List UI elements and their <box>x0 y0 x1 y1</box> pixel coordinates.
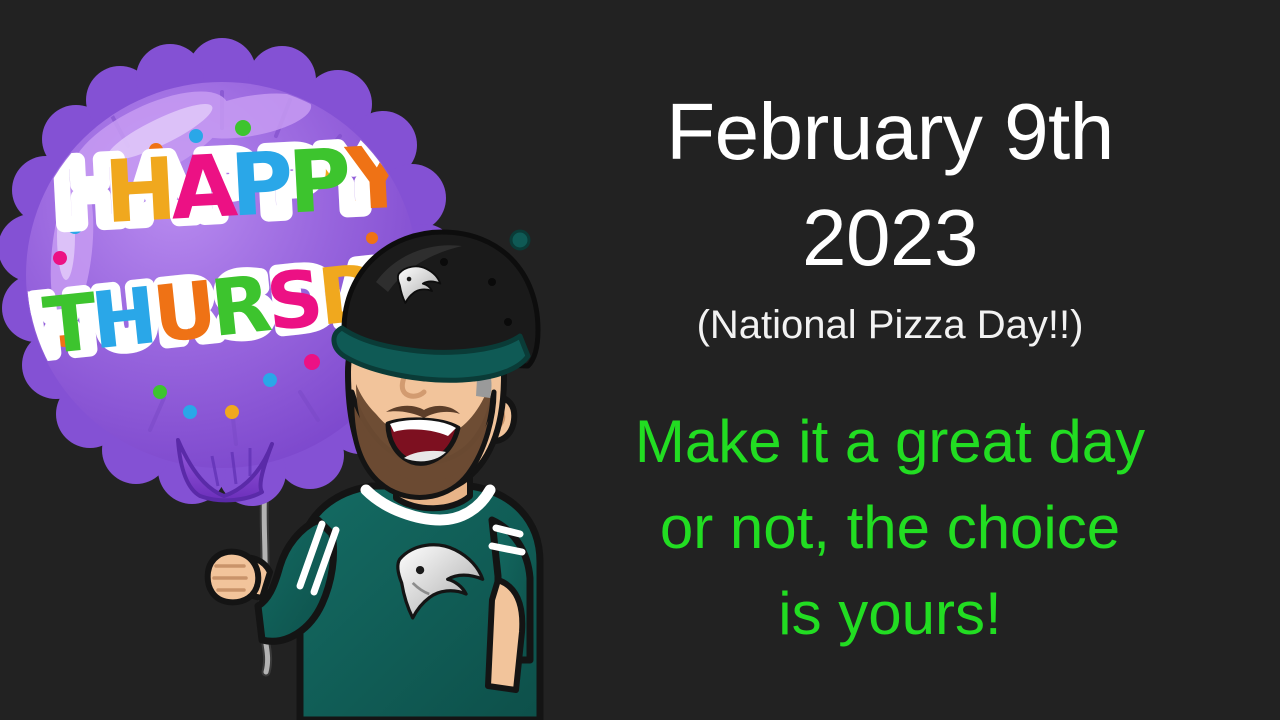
date-line-2: 2023 <box>560 198 1220 278</box>
avatar-hand <box>208 552 259 603</box>
motto-line-2: or not, the choice <box>560 498 1220 558</box>
motto-line-1: Make it a great day <box>560 412 1220 472</box>
motto-line-3: is yours! <box>560 584 1220 644</box>
text-column: February 9th 2023 (National Pizza Day!!)… <box>560 0 1280 720</box>
balloon-greeting-top: HAPPY H A P P Y <box>52 127 413 245</box>
balloon-and-avatar-artwork: HAPPY H A P P Y THURSDAY T H U R S <box>0 0 560 720</box>
svg-text:H: H <box>102 139 179 243</box>
observance-label: (National Pizza Day!!) <box>560 305 1220 345</box>
greeting-card-canvas: HAPPY H A P P Y THURSDAY T H U R S <box>0 0 1280 720</box>
date-line-1: February 9th <box>560 92 1220 172</box>
